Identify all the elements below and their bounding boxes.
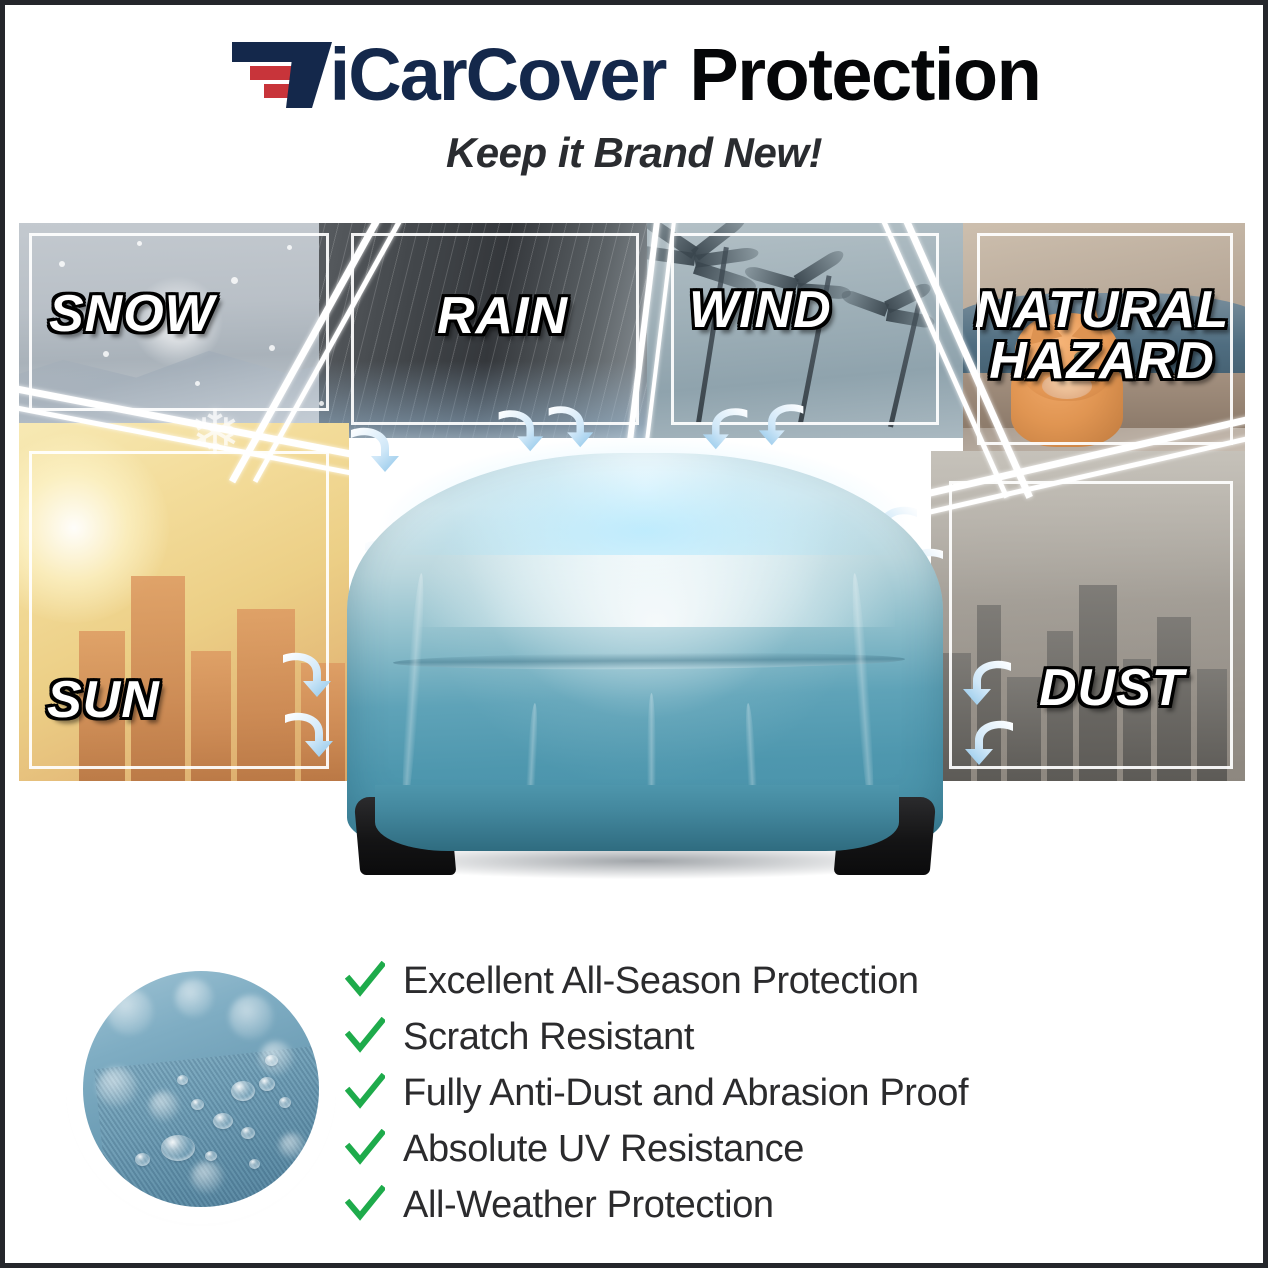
green-checkmark-icon bbox=[345, 1185, 385, 1225]
brand-name: iCarCover bbox=[330, 38, 666, 112]
dust-building bbox=[1197, 669, 1227, 781]
sun-building bbox=[191, 651, 231, 781]
palm-tree-icon bbox=[859, 299, 917, 427]
panel-label-rain: RAIN bbox=[437, 291, 568, 342]
car-cover-fold bbox=[399, 573, 428, 813]
feature-label: All-Weather Protection bbox=[403, 1184, 774, 1227]
feature-item: Absolute UV Resistance bbox=[345, 1121, 1205, 1177]
snow-dot bbox=[137, 241, 142, 246]
feature-label: Fully Anti-Dust and Abrasion Proof bbox=[403, 1072, 968, 1115]
panel-label-wind: WIND bbox=[689, 285, 832, 336]
curved-deflection-arrow-icon bbox=[277, 705, 339, 761]
snow-dot bbox=[231, 277, 238, 284]
panel-label-sun: SUN bbox=[47, 675, 160, 726]
snow-dot bbox=[59, 261, 65, 267]
brand-suffix: Protection bbox=[689, 38, 1040, 112]
feature-item: Excellent All-Season Protection bbox=[345, 953, 1205, 1009]
icarcover-wing-logo-icon bbox=[228, 36, 340, 114]
car-cover-skirt bbox=[375, 785, 899, 851]
covered-car-image bbox=[335, 445, 955, 945]
curved-deflection-arrow-icon bbox=[957, 653, 1019, 709]
curved-deflection-arrow-icon bbox=[275, 645, 337, 701]
car-highlight-glow bbox=[375, 435, 915, 555]
feature-item: Scratch Resistant bbox=[345, 1009, 1205, 1065]
snow-dot bbox=[269, 345, 275, 351]
feature-list: Excellent All-Season Protection Scratch … bbox=[345, 953, 1205, 1233]
green-checkmark-icon bbox=[345, 961, 385, 1001]
product-infographic: iCarCover Protection Keep it Brand New! … bbox=[0, 0, 1268, 1268]
panel-label-natural-hazard: NATURAL HAZARD bbox=[963, 285, 1241, 387]
green-checkmark-icon bbox=[345, 1129, 385, 1169]
car-cover-seam bbox=[393, 651, 905, 671]
snow-dot bbox=[287, 245, 292, 250]
water-beading-fabric-badge bbox=[75, 963, 327, 1215]
snow-dot bbox=[319, 401, 324, 406]
panel-label-snow: SNOW bbox=[49, 289, 215, 340]
curved-deflection-arrow-icon bbox=[959, 713, 1021, 769]
snow-dot bbox=[195, 381, 200, 386]
feature-label: Scratch Resistant bbox=[403, 1016, 694, 1059]
green-checkmark-icon bbox=[345, 1017, 385, 1057]
feature-item: Fully Anti-Dust and Abrasion Proof bbox=[345, 1065, 1205, 1121]
header: iCarCover Protection Keep it Brand New! bbox=[5, 27, 1263, 177]
feature-item: All-Weather Protection bbox=[345, 1177, 1205, 1233]
panel-label-dust: DUST bbox=[1039, 663, 1185, 714]
green-checkmark-icon bbox=[345, 1073, 385, 1113]
feature-label: Absolute UV Resistance bbox=[403, 1128, 804, 1171]
brand-lockup: iCarCover Protection bbox=[5, 27, 1263, 123]
snow-dot bbox=[103, 351, 109, 357]
feature-label: Excellent All-Season Protection bbox=[403, 960, 919, 1003]
tagline: Keep it Brand New! bbox=[5, 129, 1263, 177]
